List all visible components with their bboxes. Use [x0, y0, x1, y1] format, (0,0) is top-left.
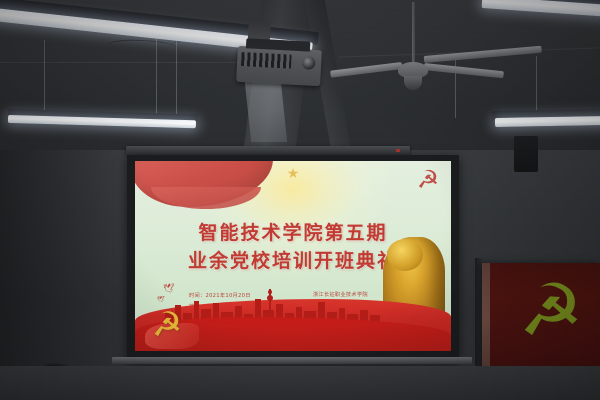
fan-downrod [412, 2, 415, 64]
hammer-sickle-icon: ☭ [415, 167, 441, 193]
projector-lens-icon [302, 56, 316, 70]
tower-sphere [268, 290, 272, 294]
star-icon: ★ [286, 167, 300, 181]
roller-indicator [396, 149, 400, 152]
presentation-slide: ★ ☭ 智能技术学院第五期 业余党校培训开班典礼 🕊 🕊 时间：2021年10月… [135, 161, 451, 351]
screen-roller-housing [126, 146, 410, 155]
fluorescent-light-4 [495, 116, 600, 127]
screen-surface: ★ ☭ 智能技术学院第五期 业余党校培训开班典礼 🕊 🕊 时间：2021年10月… [135, 161, 451, 351]
light-hanger [44, 40, 45, 120]
classroom-scene: ★ ☭ 智能技术学院第五期 业余党校培训开班典礼 🕊 🕊 时间：2021年10月… [0, 0, 600, 400]
light-hanger [156, 30, 157, 120]
hammer-sickle-icon: ☭ [149, 307, 185, 343]
lion-head [387, 239, 423, 271]
projector-screen: ★ ☭ 智能技术学院第五期 业余党校培训开班典礼 🕊 🕊 时间：2021年10月… [127, 155, 459, 361]
hammer-sickle-icon: ☭ [514, 273, 588, 347]
floor [0, 366, 600, 400]
ceiling-seam-left [0, 62, 258, 63]
projector-light-beam [245, 82, 287, 142]
wall-speaker [514, 136, 538, 172]
projector-vents [241, 52, 292, 69]
ceiling-projector [236, 46, 322, 86]
wall-shadow-left [0, 150, 120, 400]
projector-bracket [246, 38, 310, 51]
tower-sphere [267, 295, 273, 301]
screen-bottom-bar [112, 357, 472, 364]
